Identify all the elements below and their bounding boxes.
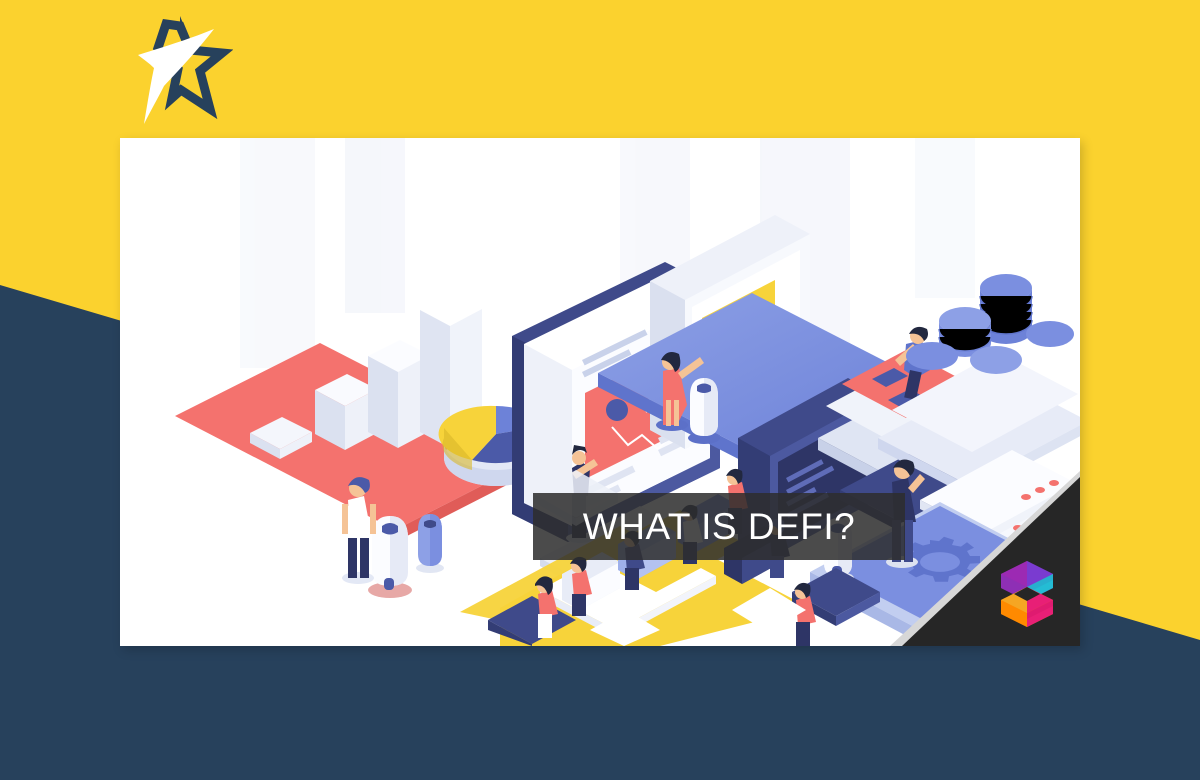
isometric-defi-illustration (120, 138, 1080, 646)
page-title: WHAT IS DEFI? (583, 506, 855, 548)
star-logo[interactable] (118, 12, 233, 127)
robot-assistant (688, 378, 720, 444)
article-hero-card[interactable]: WHAT IS DEFI? (120, 138, 1080, 646)
hero-title-band: WHAT IS DEFI? (533, 493, 905, 560)
